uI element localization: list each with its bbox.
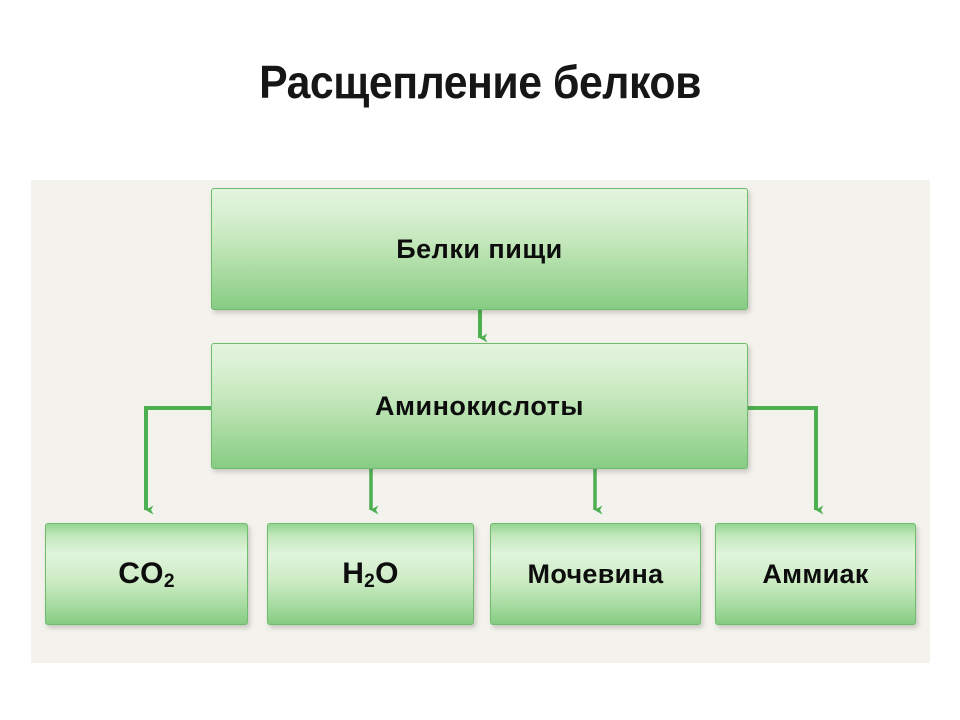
node-urea-label: Мочевина bbox=[528, 561, 664, 588]
edge-aminoacids-to-co2 bbox=[146, 408, 211, 510]
node-aminoacids[interactable]: Аминокислоты bbox=[211, 343, 748, 469]
node-aminoacids-label: Аминокислоты bbox=[375, 393, 584, 420]
node-proteins[interactable]: Белки пищи bbox=[211, 188, 748, 310]
node-h2o[interactable]: H2O bbox=[267, 523, 474, 625]
node-co2[interactable]: CO2 bbox=[45, 523, 248, 625]
slide-canvas: Расщепление белков bbox=[0, 0, 960, 720]
h2o-subscript: 2 bbox=[364, 571, 375, 592]
node-ammonia[interactable]: Аммиак bbox=[715, 523, 916, 625]
node-proteins-label: Белки пищи bbox=[396, 236, 562, 263]
co2-subscript: 2 bbox=[164, 571, 175, 592]
node-ammonia-label: Аммиак bbox=[762, 561, 868, 588]
page-title: Расщепление белков bbox=[34, 56, 927, 108]
node-h2o-label: H2O bbox=[342, 559, 399, 589]
diagram-panel: Белки пищи Аминокислоты CO2 H2O Мочевина… bbox=[31, 180, 930, 663]
edge-aminoacids-to-ammonia bbox=[748, 408, 816, 510]
node-co2-label: CO2 bbox=[118, 559, 175, 589]
node-urea[interactable]: Мочевина bbox=[490, 523, 701, 625]
